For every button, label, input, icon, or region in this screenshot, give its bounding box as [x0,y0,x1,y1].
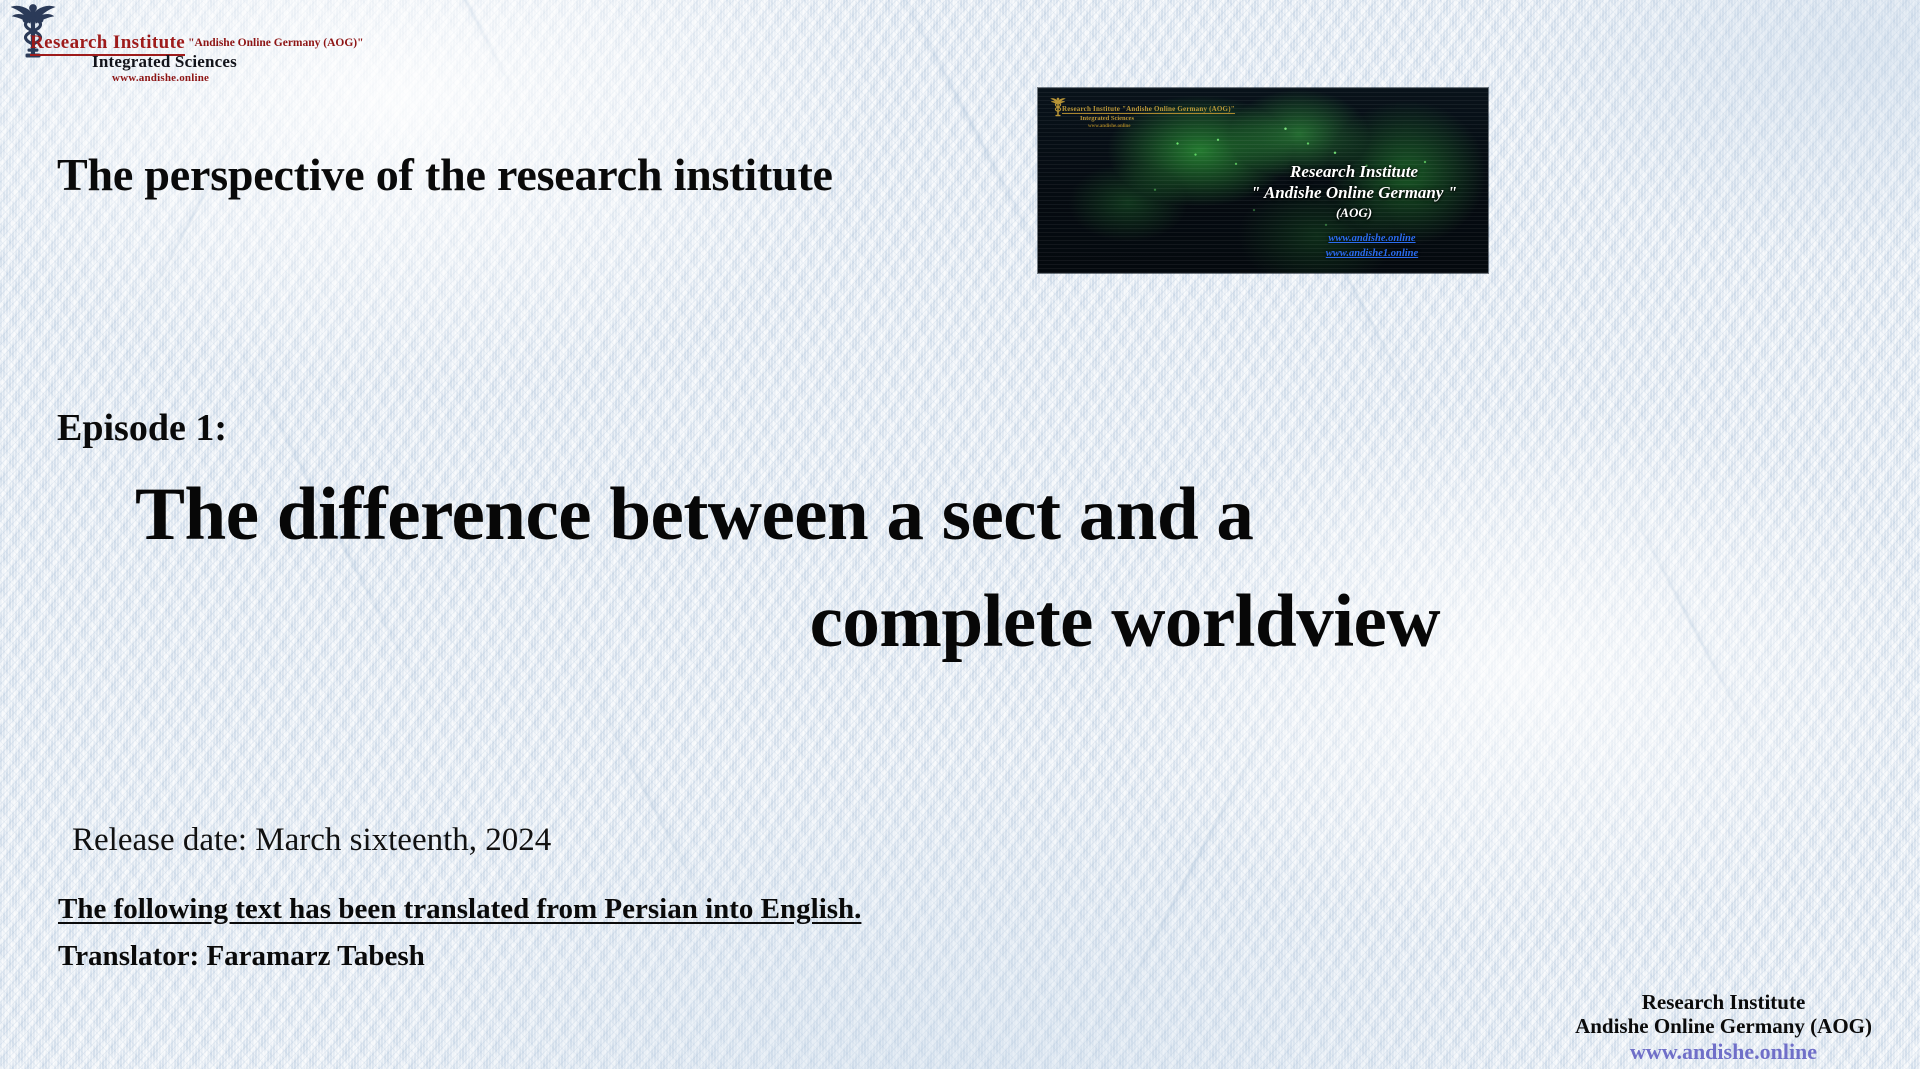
translator-credit: Translator: Faramarz Tabesh [58,940,425,973]
banner-logo-website: www.andishe.online [1088,124,1131,129]
banner-title-line-1: Research Institute [1234,162,1474,183]
slide-footer: Research Institute Andishe Online German… [1575,990,1872,1065]
headline-line-1: The difference between a sect and a [135,462,1440,569]
banner-title-block: Research Institute " Andishe Online Germ… [1234,162,1474,221]
banner-institute-logo: Research Institute "Andishe Online Germa… [1048,96,1218,134]
banner-link-list: www.andishe.online www.andishe1.online [1272,231,1472,261]
banner-link-andishe-online[interactable]: www.andishe.online [1272,231,1472,246]
logo-website: www.andishe.online [112,72,209,84]
night-earth-banner: Research Institute "Andishe Online Germa… [1038,88,1488,273]
footer-line-institute: Research Institute [1575,990,1872,1014]
banner-title-line-3: (AOG) [1234,205,1474,221]
page-title: The perspective of the research institut… [57,148,833,201]
logo-subtitle: "Andishe Online Germany (AOG)" [185,37,363,49]
release-date: Release date: March sixteenth, 2024 [72,822,551,859]
presentation-slide: Research Institute"Andishe Online German… [0,0,1920,1069]
headline: The difference between a sect and a comp… [135,462,1785,675]
banner-logo-title-text: Research Institute [1062,105,1120,113]
background-streak [379,0,522,104]
banner-logo-subtitle-text: "Andishe Online Germany (AOG)" [1122,105,1235,113]
headline-line-2: complete worldview [135,569,1440,676]
institute-logo: Research Institute"Andishe Online German… [8,2,338,94]
background-streak [128,106,252,337]
banner-logo-title: Research Institute "Andishe Online Germa… [1062,105,1235,114]
episode-label: Episode 1: [57,406,227,450]
banner-logo-integrated-sciences: Integrated Sciences [1080,115,1134,122]
footer-line-organization: Andishe Online Germany (AOG) [1575,1014,1872,1038]
footer-website-link[interactable]: www.andishe.online [1575,1039,1872,1065]
logo-integrated-sciences: Integrated Sciences [92,52,237,72]
banner-title-line-2: " Andishe Online Germany " [1234,183,1474,204]
translation-note: The following text has been translated f… [58,893,861,926]
background-streak [1091,685,1290,1057]
banner-link-andishe1-online[interactable]: www.andishe1.online [1272,246,1472,261]
logo-primary-line: Research Institute"Andishe Online German… [30,32,364,54]
